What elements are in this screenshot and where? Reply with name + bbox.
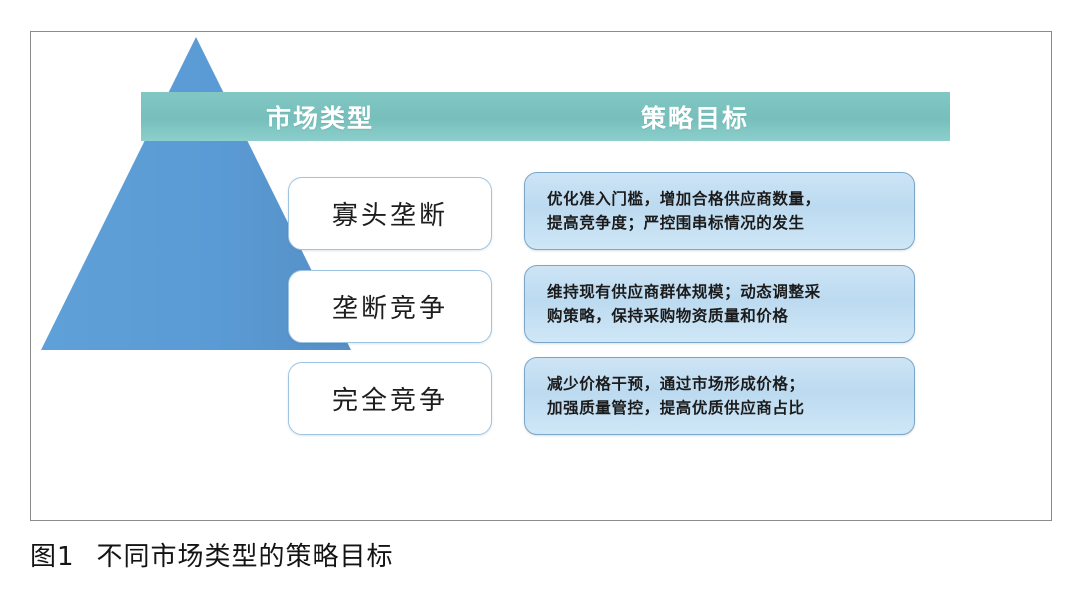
header-title-strategy-goal: 策略目标 [641, 99, 749, 135]
market-type-label: 垄断竞争 [332, 288, 448, 325]
market-type-label: 完全竞争 [332, 380, 448, 417]
strategy-goal-box-perfect-competition: 减少价格干预，通过市场形成价格； 加强质量管控，提高优质供应商占比 [524, 357, 915, 435]
market-type-label: 寡头垄断 [332, 195, 448, 232]
strategy-goal-line: 提高竞争度；严控围串标情况的发生 [547, 211, 805, 235]
market-type-box-monopolistic-competition: 垄断竞争 [288, 270, 492, 343]
strategy-goal-line: 购策略，保持采购物资质量和价格 [547, 304, 789, 328]
strategy-goal-line: 减少价格干预，通过市场形成价格； [547, 372, 805, 396]
figure-caption-number: 图1 [30, 542, 75, 572]
market-type-box-perfect-competition: 完全竞争 [288, 362, 492, 435]
strategy-goal-line: 优化准入门槛，增加合格供应商数量， [547, 187, 821, 211]
strategy-goal-box-oligopoly: 优化准入门槛，增加合格供应商数量， 提高竞争度；严控围串标情况的发生 [524, 172, 915, 250]
strategy-goal-box-monopolistic-competition: 维持现有供应商群体规模；动态调整采 购策略，保持采购物资质量和价格 [524, 265, 915, 343]
strategy-goal-line: 维持现有供应商群体规模；动态调整采 [547, 280, 821, 304]
header-title-market-type: 市场类型 [266, 99, 374, 135]
figure-caption: 图1不同市场类型的策略目标 [30, 536, 394, 573]
header-band: 市场类型 策略目标 [141, 92, 950, 141]
strategy-goal-line: 加强质量管控，提高优质供应商占比 [547, 396, 805, 420]
figure-caption-text: 不同市场类型的策略目标 [97, 542, 394, 572]
market-type-box-oligopoly: 寡头垄断 [288, 177, 492, 250]
